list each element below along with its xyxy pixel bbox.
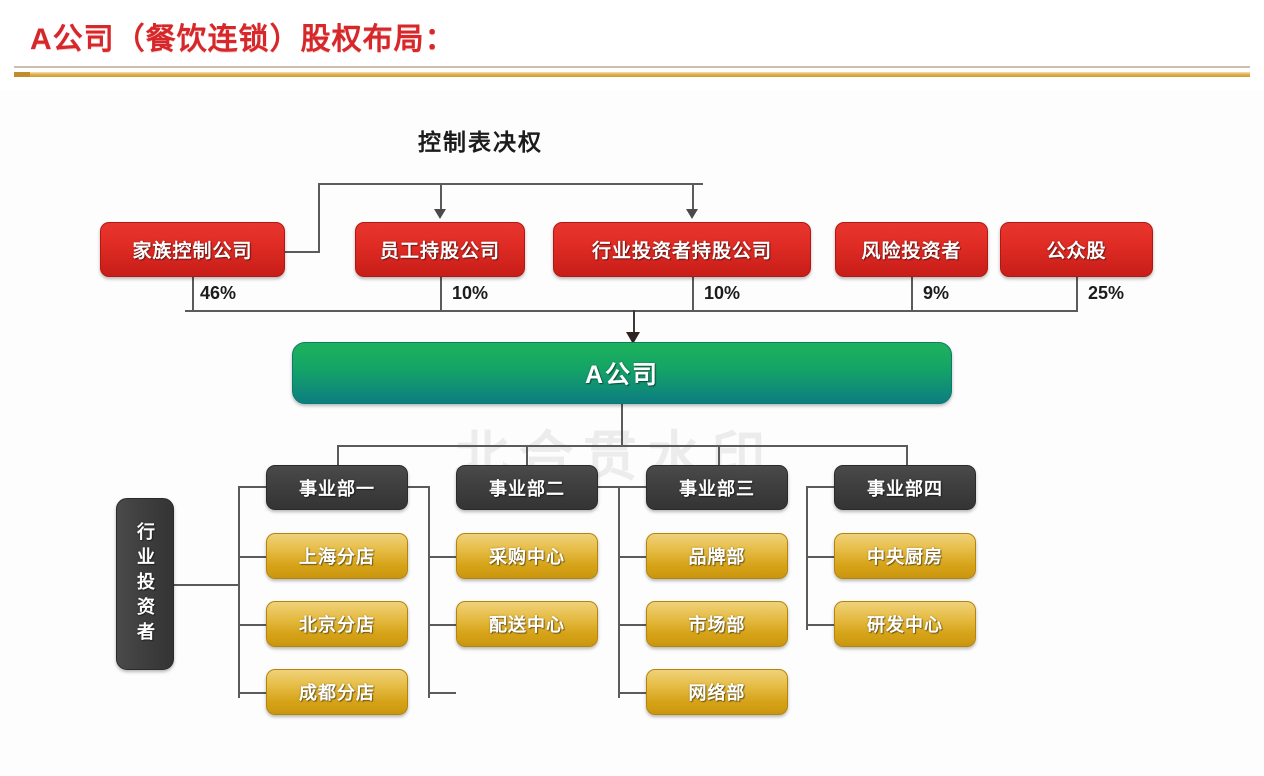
header-divider-gold	[14, 72, 1250, 77]
side-investor-box[interactable]: 行业投资者	[116, 498, 174, 670]
company-box-a[interactable]: A公司	[292, 342, 952, 404]
division4-link-head	[806, 486, 834, 488]
pct-drop-industry	[692, 277, 694, 310]
division-label: 事业部一	[299, 475, 375, 501]
division4-link-b	[806, 624, 834, 626]
header-divider-gray	[14, 66, 1250, 68]
division1-link-a	[428, 556, 456, 558]
slide-header: A公司（餐饮连锁）股权布局：	[0, 0, 1264, 90]
division-trunk	[621, 404, 623, 445]
unit-box-distribution[interactable]: 配送中心	[456, 601, 598, 647]
division1-bus	[428, 486, 430, 698]
unit-box-brand[interactable]: 品牌部	[646, 533, 788, 579]
shareholder-box-public[interactable]: 公众股	[1000, 222, 1153, 277]
org-chart: 北合贯水印 控制表决权 家族控制公司 员工持股公司 行业投资者持股公司 风险投资…	[0, 90, 1264, 776]
side-link-division1	[238, 486, 266, 488]
side-link-shanghai	[238, 556, 266, 558]
side-investor-bus	[238, 486, 240, 698]
division1-link-head	[408, 486, 429, 488]
control-voting-label: 控制表决权	[418, 123, 543, 157]
shareholder-label: 行业投资者持股公司	[592, 236, 772, 263]
shareholder-label: 公众股	[1046, 236, 1106, 263]
unit-box-purchasing[interactable]: 采购中心	[456, 533, 598, 579]
shareholder-box-employee[interactable]: 员工持股公司	[355, 222, 525, 277]
division-drop-1	[337, 445, 339, 465]
control-drop-employee	[440, 183, 442, 211]
division-box-3[interactable]: 事业部三	[646, 465, 788, 510]
side-investor-link	[174, 584, 238, 586]
percent-public: 25%	[1088, 283, 1124, 304]
division-drop-2	[526, 445, 528, 465]
control-drop-industry	[692, 183, 694, 211]
division3-link-a	[618, 556, 646, 558]
unit-label: 上海分店	[299, 543, 375, 569]
shareholder-box-family[interactable]: 家族控制公司	[100, 222, 285, 277]
division-bus-line	[337, 445, 908, 447]
unit-label: 网络部	[689, 679, 746, 705]
shareholder-box-venture[interactable]: 风险投资者	[835, 222, 988, 277]
side-link-beijing	[238, 624, 266, 626]
percent-employee: 10%	[452, 283, 488, 304]
division2-link-head	[598, 486, 619, 488]
pct-drop-family	[192, 277, 194, 310]
pct-drop-employee	[440, 277, 442, 310]
division3-bus	[618, 486, 620, 698]
division1-link-b	[428, 624, 456, 626]
control-bus-line	[318, 183, 703, 185]
unit-box-market[interactable]: 市场部	[646, 601, 788, 647]
division3-link-c	[618, 692, 646, 694]
division-label: 事业部三	[679, 475, 755, 501]
slide-canvas: A公司（餐饮连锁）股权布局： 北合贯水印 控制表决权 家族控制公司 员工持股公司…	[0, 0, 1264, 776]
unit-box-network[interactable]: 网络部	[646, 669, 788, 715]
shareholder-box-industry[interactable]: 行业投资者持股公司	[553, 222, 811, 277]
percent-family: 46%	[200, 283, 236, 304]
pct-drop-public	[1076, 277, 1078, 310]
pct-drop-venture	[911, 277, 913, 310]
header-divider-cap	[14, 72, 30, 77]
unit-box-chengdu[interactable]: 成都分店	[266, 669, 408, 715]
division-drop-3	[718, 445, 720, 465]
division1-link-c	[428, 692, 456, 694]
company-label: A公司	[585, 355, 659, 391]
shareholder-label: 家族控制公司	[132, 236, 252, 263]
control-join-family	[284, 251, 319, 253]
division4-link-a	[806, 556, 834, 558]
control-drop-family	[318, 183, 320, 253]
shareholder-label: 员工持股公司	[380, 236, 500, 263]
unit-label: 北京分店	[299, 611, 375, 637]
division-label: 事业部二	[489, 475, 565, 501]
percent-venture: 9%	[923, 283, 949, 304]
unit-label: 配送中心	[489, 611, 565, 637]
division4-bus	[806, 486, 808, 630]
unit-box-central-kitchen[interactable]: 中央厨房	[834, 533, 976, 579]
control-arrow-industry	[686, 209, 698, 219]
division-box-2[interactable]: 事业部二	[456, 465, 598, 510]
unit-label: 市场部	[689, 611, 746, 637]
division-box-4[interactable]: 事业部四	[834, 465, 976, 510]
control-arrow-employee	[434, 209, 446, 219]
division-drop-4	[906, 445, 908, 465]
unit-label: 采购中心	[489, 543, 565, 569]
page-title: A公司（餐饮连锁）股权布局：	[30, 14, 456, 58]
division-label: 事业部四	[867, 475, 943, 501]
division3-link-b	[618, 624, 646, 626]
shareholder-bus-line	[185, 310, 1078, 312]
unit-box-rnd[interactable]: 研发中心	[834, 601, 976, 647]
unit-box-shanghai[interactable]: 上海分店	[266, 533, 408, 579]
division3-link-head	[618, 486, 646, 488]
side-link-chengdu	[238, 692, 266, 694]
division-box-1[interactable]: 事业部一	[266, 465, 408, 510]
shareholder-label: 风险投资者	[861, 236, 961, 263]
percent-industry: 10%	[704, 283, 740, 304]
side-investor-label: 行业投资者	[132, 522, 158, 647]
unit-label: 品牌部	[689, 543, 746, 569]
unit-box-beijing[interactable]: 北京分店	[266, 601, 408, 647]
unit-label: 中央厨房	[867, 543, 943, 569]
unit-label: 研发中心	[867, 611, 943, 637]
unit-label: 成都分店	[299, 679, 375, 705]
